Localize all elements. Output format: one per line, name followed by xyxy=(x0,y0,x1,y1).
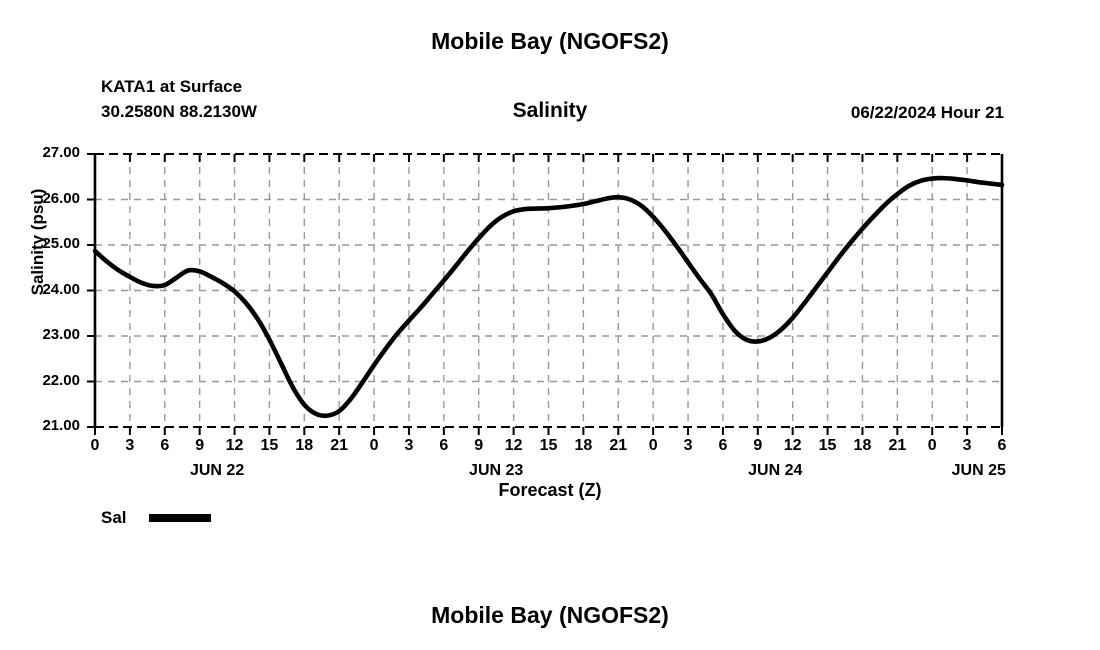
x-axis-day-label: JUN 22 xyxy=(157,462,277,480)
y-tick-label: 26.00 xyxy=(10,190,80,207)
x-axis-day-label: JUN 23 xyxy=(436,462,556,480)
plot-area: Salinity (psu) Forecast (Z) 27.0026.0025… xyxy=(0,0,1100,650)
y-tick-label: 24.00 xyxy=(10,281,80,298)
y-tick-label: 23.00 xyxy=(10,326,80,343)
plot-svg xyxy=(0,0,1100,650)
x-axis-day-label: JUN 25 xyxy=(919,462,1039,480)
legend-label-sal: Sal xyxy=(101,508,127,528)
page-title-bottom: Mobile Bay (NGOFS2) xyxy=(0,602,1100,629)
y-tick-label: 27.00 xyxy=(10,144,80,161)
y-tick-label: 21.00 xyxy=(10,417,80,434)
x-axis-day-label: JUN 24 xyxy=(715,462,835,480)
y-tick-label: 22.00 xyxy=(10,372,80,389)
y-tick-label: 25.00 xyxy=(10,235,80,252)
chart-page: Mobile Bay (NGOFS2) KATA1 at Surface 30.… xyxy=(0,0,1100,650)
legend-line-swatch xyxy=(149,514,211,522)
x-axis-title: Forecast (Z) xyxy=(0,480,1100,501)
x-tick-label: 6 xyxy=(982,437,1022,455)
chart-legend: Sal xyxy=(101,508,211,528)
